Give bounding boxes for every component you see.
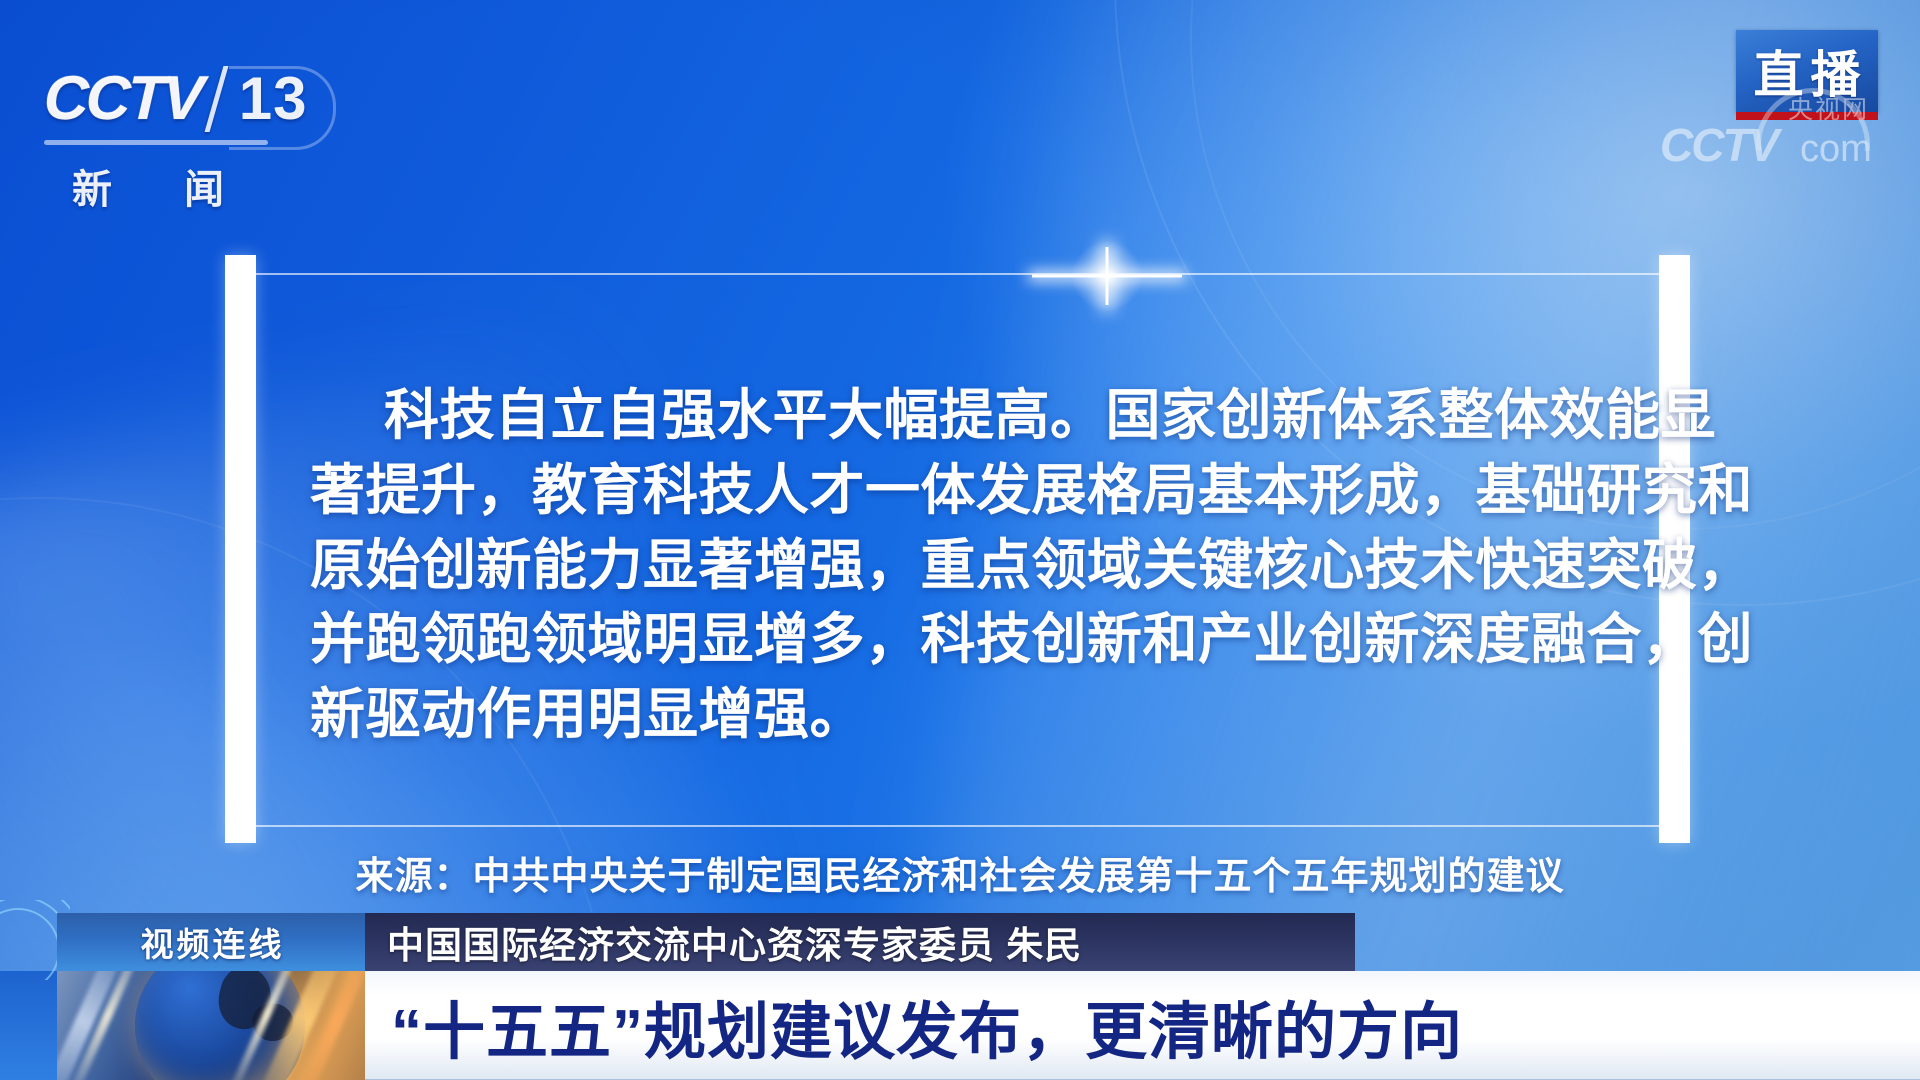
star-sparkle-icon (1105, 274, 1109, 278)
cctv-com-watermark: CCTV com 央视网 (1660, 96, 1890, 172)
quote-line: 科技自立自强水平大幅提高。国家创新体系整体效能显 (310, 378, 1610, 453)
watermark-chinese: 央视网 (1788, 98, 1869, 123)
watermark-com: com (1800, 130, 1872, 168)
quote-line: 新驱动作用明显增强。 (310, 677, 1610, 752)
frame-bar-left (225, 255, 256, 843)
cctv-wordmark: CCTV (43, 68, 202, 130)
channel-logo-row: CCTV 13 (44, 62, 324, 136)
lower-third: 视频连线 中国国际经济交流中心资深专家委员 朱民 “十五五”规划建议发布，更清晰… (0, 900, 1920, 1080)
guest-title-text: 中国国际经济交流中心资深专家委员 朱民 (365, 915, 1082, 969)
watermark-cctv: CCTV (1660, 122, 1777, 168)
quote-line: 著提升，教育科技人才一体发展格局基本形成，基础研究和 (310, 453, 1610, 528)
quote-line: 原始创新能力显著增强，重点领域关键核心技术快速突破， (310, 528, 1610, 603)
video-link-block: 视频连线 (57, 913, 365, 1080)
slash-icon (205, 64, 231, 134)
quote-body: 科技自立自强水平大幅提高。国家创新体系整体效能显 著提升，教育科技人才一体发展格… (310, 378, 1610, 752)
frame-line-top (251, 273, 1664, 275)
globe-icon (57, 971, 365, 1080)
frame-line-bottom (251, 825, 1664, 827)
quote-line: 并跑领跑领域明显增多，科技创新和产业创新深度融合，创 (310, 602, 1610, 677)
quote-source: 来源：中共中央关于制定国民经济和社会发展第十五个五年规划的建议 (0, 845, 1920, 900)
headline-text: “十五五”规划建议发布，更清晰的方向 (365, 981, 1463, 1071)
video-link-label: 视频连线 (138, 918, 285, 966)
broadcast-screen: CCTV 13 新 闻 直播 CCTV com 央视网 科技自立自强水平大幅提高… (0, 0, 1920, 1080)
channel-number: 13 (239, 69, 308, 129)
video-link-badge: 视频连线 (57, 913, 365, 971)
guest-title-bar: 中国国际经济交流中心资深专家委员 朱民 (365, 913, 1355, 971)
channel-subtitle: 新 闻 (44, 157, 268, 215)
headline-bar: “十五五”规划建议发布，更清晰的方向 (365, 971, 1920, 1080)
channel-logo: CCTV 13 新 闻 (44, 62, 324, 215)
lower-third-left-fill (0, 971, 57, 1080)
channel-number-badge: 13 (233, 69, 324, 129)
